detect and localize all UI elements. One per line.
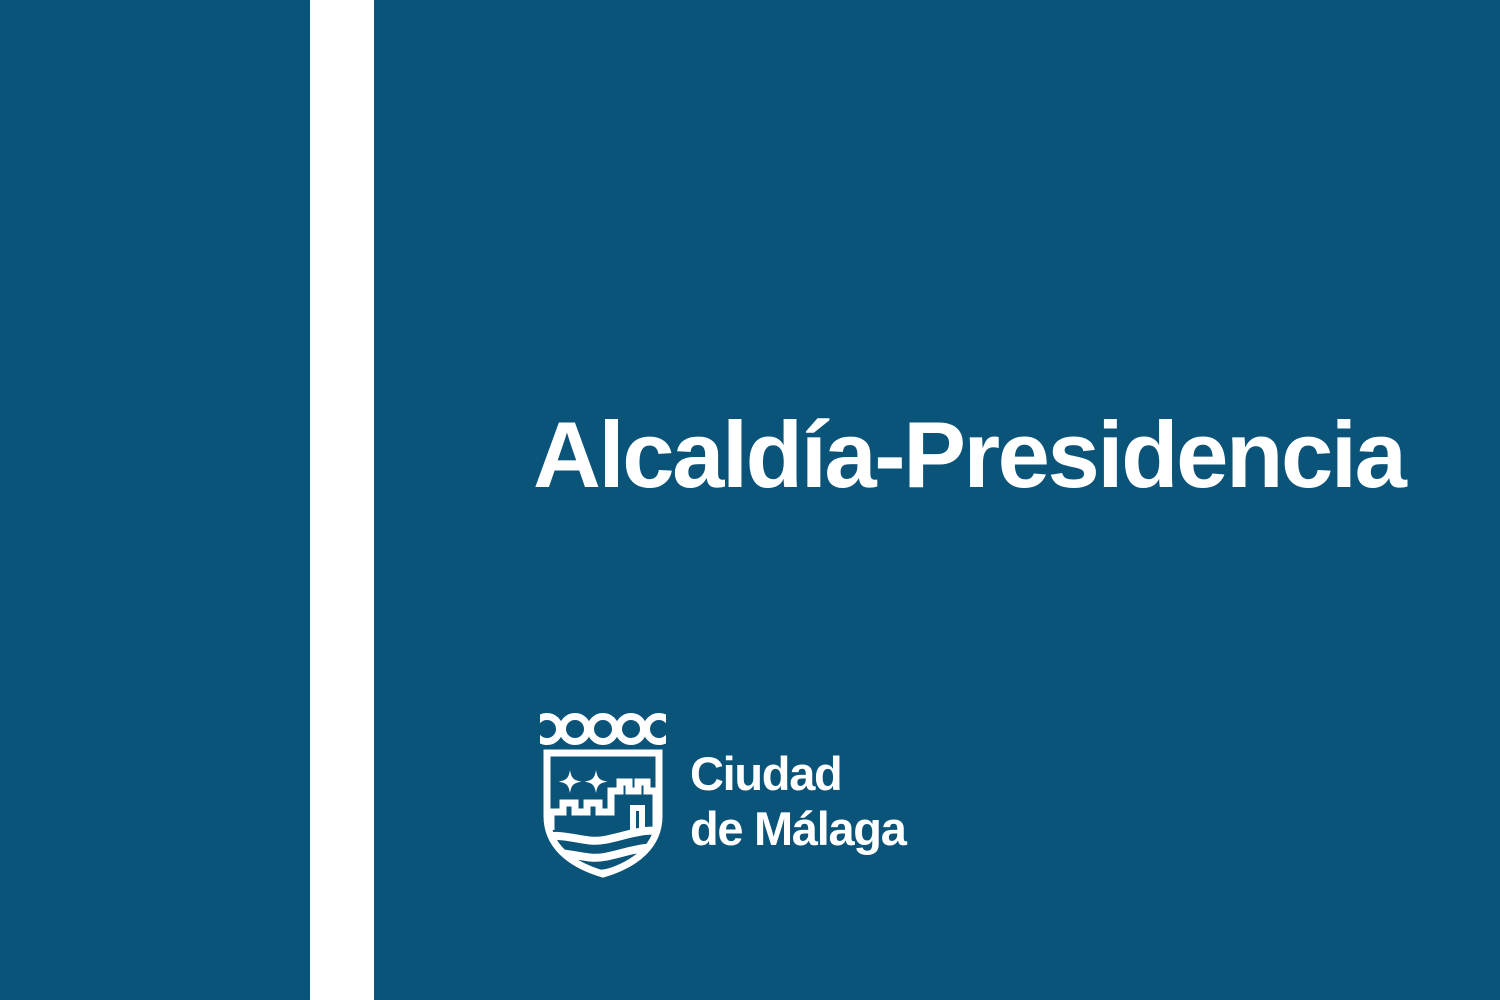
crown-rings [538,717,668,742]
white-divider-stripe [310,0,374,1000]
star-icons [558,770,607,793]
brand-wordmark: Ciudad de Málaga [690,746,906,857]
brand-wordmark-line-1: Ciudad [690,746,906,801]
ciudad-de-malaga-shield-icon [538,712,668,878]
castle-battlements [551,782,656,830]
brand-wordmark-line-2: de Málaga [690,801,906,856]
page-title: Alcaldía-Presidencia [533,404,1473,506]
left-color-band [0,0,310,1000]
shield-charges [540,770,668,874]
banner-canvas: Alcaldía-Presidencia [0,0,1500,1000]
brand-lockup: Ciudad de Málaga [538,712,906,878]
